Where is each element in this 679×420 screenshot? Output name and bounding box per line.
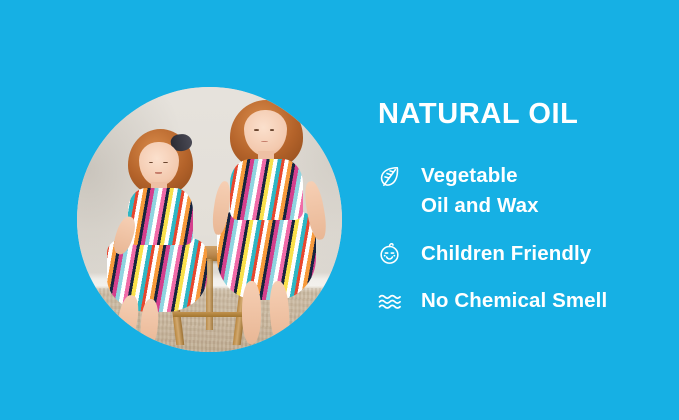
girl-standing-bodice	[230, 159, 304, 220]
feature-item-vegetable-oil-and-wax: Vegetable Oil and Wax	[377, 161, 663, 222]
feature-label: Vegetable Oil and Wax	[421, 161, 539, 222]
feature-list: Vegetable Oil and Wax Children Fr	[377, 161, 663, 316]
product-photo-circle	[77, 87, 342, 352]
feature-label: Children Friendly	[421, 239, 591, 269]
baby-face-icon	[377, 242, 402, 267]
feature-item-no-chemical-smell: No Chemical Smell	[377, 286, 663, 316]
waves-icon	[377, 289, 402, 314]
banner-content: NATURAL OIL Vegetable Oil and Wax	[377, 100, 663, 316]
girl-seated-bodice	[128, 188, 193, 244]
photo-background-scene	[77, 87, 342, 352]
feature-item-children-friendly: Children Friendly	[377, 239, 663, 269]
girl-standing	[204, 100, 331, 344]
page-title: NATURAL OIL	[378, 100, 663, 129]
leaf-icon	[377, 164, 402, 189]
feature-label: No Chemical Smell	[421, 286, 607, 316]
natural-oil-banner: NATURAL OIL Vegetable Oil and Wax	[0, 0, 679, 420]
girl-standing-leg-left	[242, 281, 261, 344]
girl-standing-skirt	[217, 212, 316, 300]
